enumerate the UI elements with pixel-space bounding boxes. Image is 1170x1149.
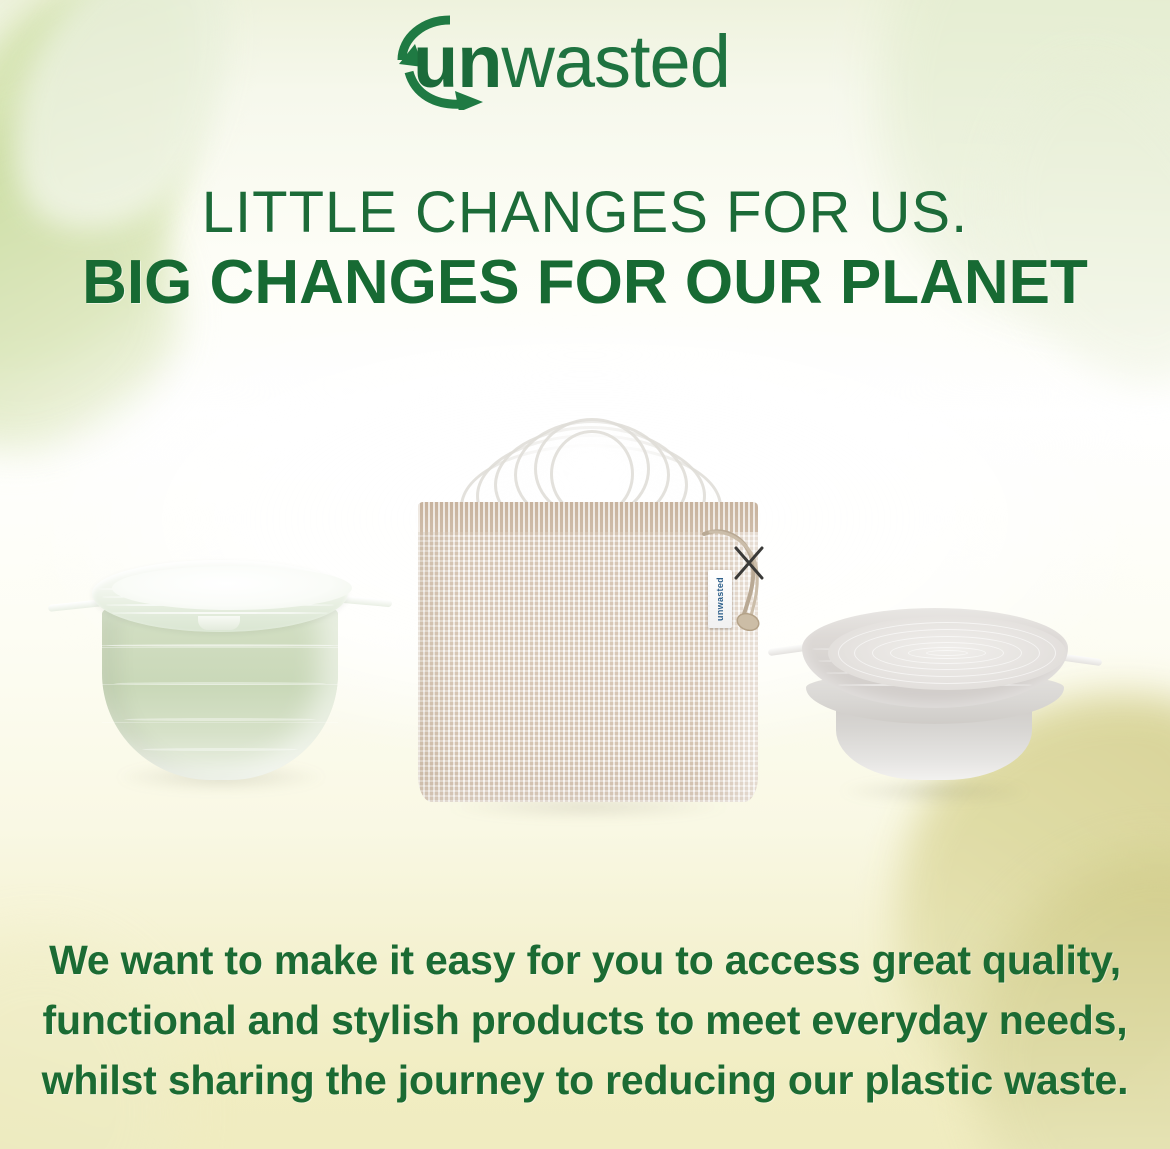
product-grey-bowl: [790, 590, 1080, 790]
product-mesh-bag: unwasted: [418, 410, 758, 810]
logo-text-un: un: [413, 20, 501, 103]
body-copy-line-1: We want to make it easy for you to acces…: [0, 930, 1170, 990]
bowl-left-lid-tab-right: [340, 596, 392, 608]
brand-tag-text: unwasted: [715, 577, 725, 621]
bowl-left-lid-notch: [198, 616, 240, 630]
bowl-right-lid-top: [828, 616, 1066, 690]
brand-logo: unwasted: [0, 14, 1170, 110]
logo-text-wasted: wasted: [501, 20, 729, 103]
brand-tag-label: unwasted: [708, 570, 732, 628]
bowl-right-shadow: [840, 778, 1030, 804]
headline-block: LITTLE CHANGES FOR US. BIG CHANGES FOR O…: [0, 182, 1170, 318]
bowl-left-lid-top: [112, 566, 352, 610]
product-sage-green-bowl: [80, 550, 360, 780]
promo-banner: unwasted LITTLE CHANGES FOR US. BIG CHAN…: [0, 0, 1170, 1149]
product-photo-group: unwasted: [0, 400, 1170, 850]
body-copy-line-3: whilst sharing the journey to reducing o…: [0, 1050, 1170, 1110]
body-copy-block: We want to make it easy for you to acces…: [0, 930, 1170, 1110]
headline-line-2: BIG CHANGES FOR OUR PLANET: [0, 248, 1170, 318]
body-copy-line-2: functional and stylish products to meet …: [0, 990, 1170, 1050]
headline-line-1: LITTLE CHANGES FOR US.: [0, 182, 1170, 244]
bowl-left-body: [102, 608, 338, 780]
